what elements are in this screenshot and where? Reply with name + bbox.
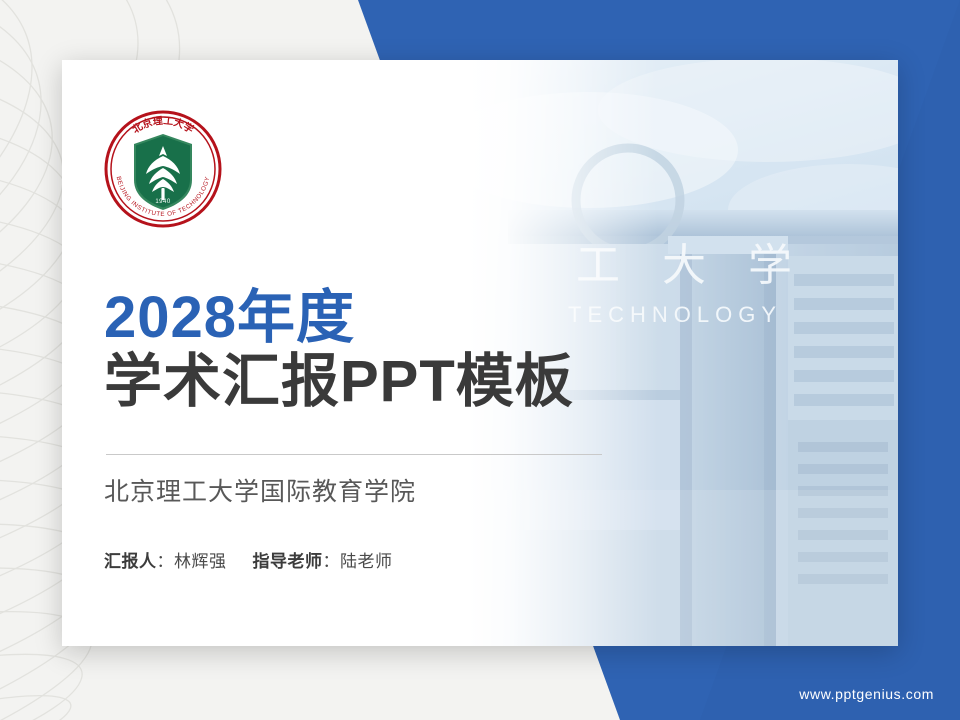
title-divider [106,454,602,455]
slide-card: 工 大 学 TECHNOLOGY [62,60,898,646]
presenter-label: 汇报人 [104,552,157,571]
presenter-meta: 汇报人：林辉强指导老师：陆老师 [104,547,393,572]
beijing-institute-of-technology-emblem: 北京理工大学 BEIJING INSTITUTE OF TECHNOLOGY 1… [104,110,222,228]
subtitle-department: 北京理工大学国际教育学院 [104,472,416,508]
advisor-label: 指导老师 [253,552,323,571]
footer-website-url: www.pptgenius.com [799,686,934,702]
advisor-separator: ： [323,552,341,571]
title-year: 2028年度 [104,288,355,349]
advisor-name: 陆老师 [340,552,393,571]
slide-canvas: 工 大 学 TECHNOLOGY [0,0,960,720]
svg-text:1940: 1940 [155,199,171,205]
title-main: 学术汇报PPT模板 [104,352,574,413]
presenter-name: 林辉强 [174,552,227,571]
presenter-separator: ： [157,552,175,571]
